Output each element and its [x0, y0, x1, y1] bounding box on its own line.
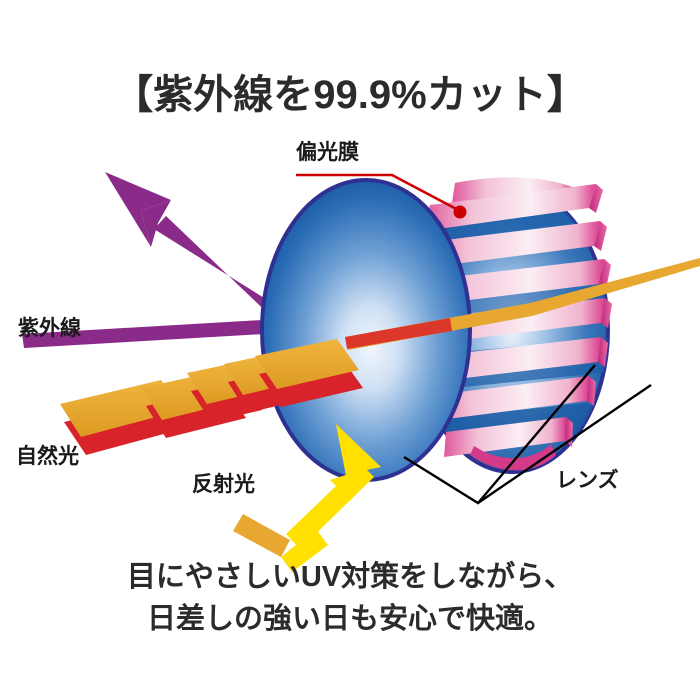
label-natural-light: 自然光 [16, 446, 79, 467]
label-lens: レンズ [556, 470, 619, 491]
illustration-page: 【紫外線を99.9%カット】 [0, 0, 700, 700]
leader-end-dot [454, 206, 467, 219]
page-caption: 目にやさしいUV対策をしながら、 日差しの強い日も安心で快適。 [0, 556, 700, 640]
caption-line-1: 目にやさしいUV対策をしながら、 [0, 556, 700, 598]
label-reflected-light: 反射光 [192, 474, 255, 495]
caption-line-2: 日差しの強い日も安心で快適。 [0, 598, 700, 640]
label-uv: 紫外線 [18, 318, 81, 339]
label-polarizing-film: 偏光膜 [296, 142, 359, 163]
